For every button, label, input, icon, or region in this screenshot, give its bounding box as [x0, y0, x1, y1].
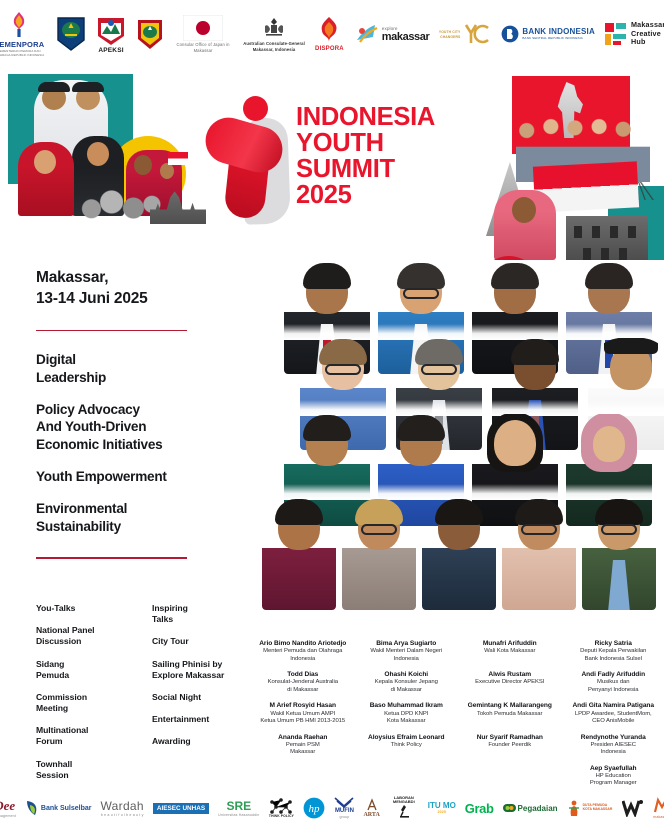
agenda-item: Awarding	[152, 736, 250, 747]
hero-cheering-youth-photo	[494, 190, 556, 260]
speaker-entry: Alwis Rustam Executive Director APEKSI	[459, 671, 561, 694]
title-line-summit: SUMMIT	[296, 156, 435, 182]
brand-mark-head-dot	[243, 96, 268, 121]
agenda-column-left: You-Talks National Panel Discussion Sida…	[36, 603, 134, 792]
speaker-name: Rendynothe Yuranda	[565, 734, 663, 742]
agenda-item: Sidang Pemuda	[36, 659, 134, 681]
speaker-entry: Andi Fadly Arifuddin Musikus dan Penyany…	[563, 671, 664, 694]
agenda-item: City Tour	[152, 636, 250, 647]
hero-selfie-photo	[18, 142, 74, 216]
speaker-entry: Ricky Satria Deputi Kepala Perwakilan Ba…	[563, 640, 664, 663]
event-location-date: Makassar, 13-14 Juni 2025	[36, 268, 250, 310]
wardah-logo: Wardah b e a u t i f u l b e a u t y	[101, 799, 144, 818]
speaker-entry: Andi Gita Namira Patigana LPDP Awardee, …	[563, 702, 664, 725]
m-logo: makassar	[653, 797, 664, 820]
agenda-item: National Panel Discussion	[36, 625, 134, 647]
divider-top	[36, 330, 187, 332]
speaker-entry: Aep Syaefullah HP Education Program Mana…	[563, 765, 664, 788]
bank-sulselbar-wordmark: Bank Sulselbar	[41, 805, 92, 812]
mufin-sub: group	[339, 815, 349, 819]
m-sub: makassar	[653, 815, 664, 819]
itu-mo-logo: ITU MO 2025	[428, 802, 456, 815]
sre-sub: Universitas Hasanuddin	[218, 813, 259, 817]
youth-city-changers-logo: YOUTH CITY CHANGERS	[438, 8, 492, 60]
itu-mo-wordmark: ITU MO	[428, 802, 456, 810]
title-line-youth: YOUTH	[296, 130, 435, 156]
theme-list: Digital Leadership Policy Advocacy And Y…	[36, 351, 250, 535]
dispora-logo: DISPORA	[315, 8, 344, 60]
bank-indonesia-icon	[501, 25, 519, 43]
speaker-name: Andi Fadly Arifuddin	[565, 671, 663, 679]
speaker-role: Ketua DPD KNPI Kota Makassar	[358, 711, 456, 726]
svg-text:hp: hp	[309, 803, 321, 815]
bank-indonesia-caption: BANK SENTRAL REPUBLIK INDONESIA	[522, 37, 583, 41]
speaker-role: Pemain PSM Makassar	[254, 742, 352, 757]
speaker-entry: Todd Dias Konsulat-Jenderal Australia di…	[252, 671, 354, 694]
speaker-name: Aep Syaefullah	[565, 765, 663, 773]
laboran-mengabdi-logo: LABORAN MENGABDI	[389, 796, 419, 821]
aiesec-unhas-wordmark: AIESEC UNHAS	[153, 803, 209, 814]
speaker-role: Executive Director APEKSI	[461, 679, 559, 686]
hp-circle-icon: hp	[303, 797, 325, 819]
makassar-wordmark: makassar	[382, 31, 430, 43]
dispora-logo-word: DISPORA	[315, 46, 344, 52]
agenda-item: Commission Meeting	[36, 692, 134, 714]
city-crest-icon	[136, 17, 164, 51]
speaker-photo	[342, 498, 416, 610]
aiesec-unhas-logo: AIESEC UNHAS	[153, 803, 209, 814]
speaker-photo	[422, 498, 496, 610]
dee-sub: management	[0, 814, 16, 818]
australian-coat-of-arms-icon	[259, 16, 289, 40]
hero-fort-rotterdam-graphic	[566, 216, 648, 260]
provincial-shield-icon	[56, 16, 86, 52]
speaker-name: Andi Gita Namira Patigana	[565, 702, 663, 710]
speaker-role: Deputi Kepala Perwakilan Bank Indonesia …	[565, 648, 663, 663]
speaker-role: Musikus dan Penyanyi Indonesia	[565, 679, 663, 694]
ycc-caption: YOUTH CITY CHANGERS	[438, 30, 460, 39]
divider-bottom	[36, 557, 187, 559]
speaker-name: M Arief Rosyid Hasan	[254, 702, 352, 710]
speaker-photo	[582, 498, 656, 610]
sulawesi-selatan-emblem	[56, 8, 86, 60]
kemenpora-torch-icon	[6, 10, 32, 40]
header-partner-logo-bar: KEMENPORA KEMENTERIAN PEMUDA DAN OLAHRAG…	[0, 0, 664, 68]
m-monogram-icon	[653, 797, 664, 815]
ycc-monogram-icon	[462, 19, 492, 49]
agenda-item: You-Talks	[36, 603, 134, 614]
speaker-entry: Nur Syarif Ramadhan Founder Peerdik	[459, 734, 561, 757]
bank-sulselbar-logo: Bank Sulselbar	[25, 799, 92, 817]
page-title: INDONESIA YOUTH SUMMIT 2025	[296, 104, 435, 208]
speaker-role: Presiden AIESEC Indonesia	[565, 742, 663, 757]
speaker-name: Ananda Raehan	[254, 734, 352, 742]
think-policy-network-icon	[268, 798, 294, 814]
speaker-entry: Munafri Arifuddin Wali Kota Makassar	[459, 640, 561, 663]
footer-sponsor-logo-bar: Dee management Bank Sulselbar Wardah b e…	[0, 786, 664, 830]
speaker-name: Todd Dias	[254, 671, 352, 679]
speaker-name: Munafri Arifuddin	[461, 640, 559, 648]
theme-item: Policy Advocacy And Youth-Driven Economi…	[36, 401, 250, 453]
speaker-name: Gemintang K Mallarangeng	[461, 702, 559, 710]
japan-flag-icon	[183, 15, 223, 41]
laboran-mengabdi-wordmark: LABORAN MENGABDI	[389, 796, 419, 805]
speaker-name: Ohashi Koichi	[358, 671, 456, 679]
bank-indonesia-wordmark: BANK INDONESIA	[522, 27, 595, 36]
event-date: 13-14 Juni 2025	[36, 289, 250, 310]
mufin-waves-icon	[334, 797, 354, 808]
apeksi-shield-icon	[95, 15, 127, 47]
speaker-entry: Ananda Raehan Pemain PSM Makassar	[252, 734, 354, 757]
speaker-entry: M Arief Rosyid Hasan Wakil Ketua Umum AM…	[252, 702, 354, 725]
title-line-year: 2025	[296, 182, 435, 208]
event-info-column: Makassar, 13-14 Juni 2025 Digital Leader…	[36, 268, 250, 579]
speaker-photo	[502, 498, 576, 610]
hero-flowers-graphic	[78, 186, 162, 224]
speaker-role: Wakil Menteri Dalam Negeri Indonesia	[358, 648, 456, 663]
speaker-role: Think Policy	[358, 742, 456, 749]
kemenpora-logo: KEMENPORA KEMENTERIAN PEMUDA DAN OLAHRAG…	[0, 8, 47, 60]
pegadaian-logo: Pegadaian	[503, 803, 558, 813]
arta-wordmark: ARTA	[363, 812, 379, 818]
event-location: Makassar,	[36, 268, 250, 289]
speaker-entry: Ario Bimo Nandito Ariotedjo Menteri Pemu…	[252, 640, 354, 663]
iys-brand-mark-icon	[205, 96, 291, 214]
speaker-name: Alwis Rustam	[461, 671, 559, 679]
speaker-hat-icon	[604, 338, 658, 354]
bank-indonesia-logo: BANK INDONESIA BANK SENTRAL REPUBLIK IND…	[501, 8, 595, 60]
australian-consulate-caption: Australian Consulate-General Makassar, I…	[242, 41, 306, 52]
speaker-role: Tokoh Pemuda Makassar	[461, 711, 559, 718]
australian-consulate-general-logo: Australian Consulate-General Makassar, I…	[242, 8, 306, 60]
speaker-role: Wali Kota Makassar	[461, 648, 559, 655]
speaker-entry: Bima Arya Sugiarto Wakil Menteri Dalam N…	[356, 640, 458, 663]
explore-makassar-logo: explore makassar	[353, 8, 430, 60]
speaker-entry: Baso Muhammad Ikram Ketua DPD KNPI Kota …	[356, 702, 458, 725]
sre-logo: SRE Universitas Hasanuddin	[218, 799, 259, 818]
speaker-photo	[262, 498, 336, 610]
sulselbar-leaf-icon	[25, 799, 39, 817]
speaker-photo-grid	[252, 262, 664, 640]
mufin-logo: MUFIN group	[334, 797, 354, 819]
w-monogram-icon	[622, 799, 644, 817]
speaker-name: Ricky Satria	[565, 640, 663, 648]
poster-root: KEMENPORA KEMENTERIAN PEMUDA DAN OLAHRAG…	[0, 0, 664, 830]
arta-monogram-icon	[365, 798, 379, 812]
pegadaian-wordmark: Pegadaian	[518, 804, 558, 813]
sre-wordmark: SRE	[226, 799, 251, 813]
dee-wordmark: Dee	[0, 798, 15, 814]
speaker-name-list: Ario Bimo Nandito Ariotedjo Menteri Pemu…	[252, 640, 664, 788]
speaker-entry: Ohashi Koichi Kepala Konsuler Jepang di …	[356, 671, 458, 694]
grab-logo: Grab	[465, 801, 494, 816]
speaker-role: Konsulat-Jenderal Australia di Makassar	[254, 679, 352, 694]
agenda-item: Entertainment	[152, 714, 250, 725]
speaker-role: Founder Peerdik	[461, 742, 559, 749]
theme-item: Digital Leadership	[36, 351, 250, 386]
theme-item: Youth Empowerment	[36, 468, 250, 485]
arta-logo: ARTA	[363, 798, 379, 818]
makassar-creative-hub-logo: Makassar Creative Hub	[604, 8, 664, 60]
speaker-name: Nur Syarif Ramadhan	[461, 734, 559, 742]
hero-indonesia-flag-icon	[168, 152, 188, 165]
creative-hub-blocks-icon	[604, 21, 628, 47]
agenda-item: Social Night	[152, 692, 250, 703]
mufin-wordmark: MUFIN	[335, 808, 354, 814]
dee-logo: Dee management	[0, 798, 16, 819]
agenda-column-right: Inspiring Talks City Tour Sailing Phinis…	[152, 603, 250, 792]
agenda-item: Townhall Session	[36, 759, 134, 781]
japan-flag-logo: Consular Office of Japan in Makassar	[173, 8, 233, 60]
speaker-entry: Aloysius Efraim Leonard Think Policy	[356, 734, 458, 757]
speaker-role: LPDP Awardee, StudentMom, CEO AnisMobile	[565, 711, 663, 726]
speaker-photo-row	[252, 498, 656, 610]
hero-collage: INDONESIA YOUTH SUMMIT 2025	[0, 68, 664, 260]
grab-wordmark: Grab	[465, 801, 494, 816]
think-policy-wordmark: THINK POLICY	[269, 814, 294, 818]
kemenpora-logo-caption: KEMENTERIAN PEMUDA DAN OLAHRAGA REPUBLIK…	[0, 50, 47, 57]
agenda-list: You-Talks National Panel Discussion Sida…	[36, 603, 250, 792]
agenda-item: Sailing Phinisi by Explore Makassar	[152, 659, 250, 681]
kota-makassar-emblem	[136, 8, 164, 60]
wardah-wordmark: Wardah	[101, 799, 144, 813]
japan-consulate-caption: Consular Office of Japan in Makassar	[173, 42, 233, 53]
speaker-name: Aloysius Efraim Leonard	[358, 734, 456, 742]
microscope-icon	[397, 804, 411, 820]
explore-makassar-boat-icon	[353, 22, 379, 46]
apeksi-logo: APEKSI	[95, 8, 127, 60]
w-logo	[622, 799, 644, 817]
duta-pemuda-figure-icon	[567, 800, 581, 817]
agenda-item: Inspiring Talks	[152, 603, 250, 625]
title-line-indonesia: INDONESIA	[296, 104, 435, 130]
dispora-flame-icon	[317, 16, 341, 46]
pegadaian-mark-icon	[503, 803, 516, 813]
speaker-entry: Gemintang K Mallarangeng Tokoh Pemuda Ma…	[459, 702, 561, 725]
speaker-name: Bima Arya Sugiarto	[358, 640, 456, 648]
kemenpora-logo-word: KEMENPORA	[0, 40, 44, 49]
speaker-name: Ario Bimo Nandito Ariotedjo	[254, 640, 352, 648]
duta-pemuda-wordmark: DUTA PEMUDA KOTA MAKASSAR	[583, 804, 613, 812]
speaker-role: Menteri Pemuda dan Olahraga Indonesia	[254, 648, 352, 663]
speaker-role: Wakil Ketua Umum AMPI Ketua Umum PB HMI …	[254, 711, 352, 726]
speaker-name: Baso Muhammad Ikram	[358, 702, 456, 710]
apeksi-logo-word: APEKSI	[98, 47, 123, 54]
duta-pemuda-kota-makassar-logo: DUTA PEMUDA KOTA MAKASSAR	[567, 800, 613, 817]
theme-item: Environmental Sustainability	[36, 500, 250, 535]
itu-mo-sub: 2025	[437, 810, 446, 814]
speaker-entry: Rendynothe Yuranda Presiden AIESEC Indon…	[563, 734, 664, 757]
speaker-role: Kepala Konsuler Jepang di Makassar	[358, 679, 456, 694]
makassar-creative-hub-wordmark: Makassar Creative Hub	[631, 21, 664, 46]
wardah-sub: b e a u t i f u l b e a u t y	[101, 813, 144, 817]
think-policy-logo: THINK POLICY	[268, 798, 294, 819]
agenda-item: Multinational Forum	[36, 725, 134, 747]
hp-logo: hp	[303, 797, 325, 819]
